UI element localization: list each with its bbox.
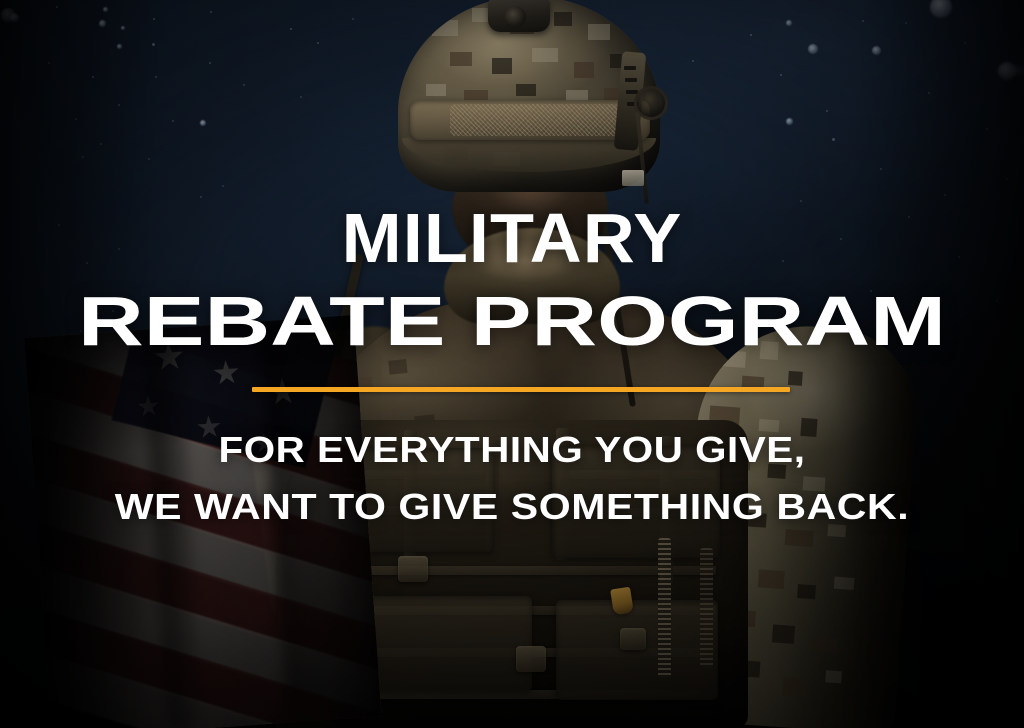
vest-zipper — [658, 538, 671, 678]
american-flag — [24, 315, 381, 728]
night-vision-shroud-hole — [504, 6, 526, 28]
vest-zipper — [700, 548, 713, 668]
military-rebate-banner: MILITARY REBATE PROGRAM FOR EVERYTHING Y… — [0, 0, 1024, 728]
flag-shading — [24, 315, 381, 728]
helmet-band-texture — [450, 104, 620, 136]
rail-slot — [624, 66, 636, 70]
vest-buckle — [620, 628, 646, 650]
vest-accent-marker — [610, 587, 634, 616]
vest-buckle — [398, 556, 428, 582]
rail-slot — [625, 78, 637, 82]
helmet-id-tag — [622, 170, 644, 186]
vest-buckle — [516, 646, 546, 672]
